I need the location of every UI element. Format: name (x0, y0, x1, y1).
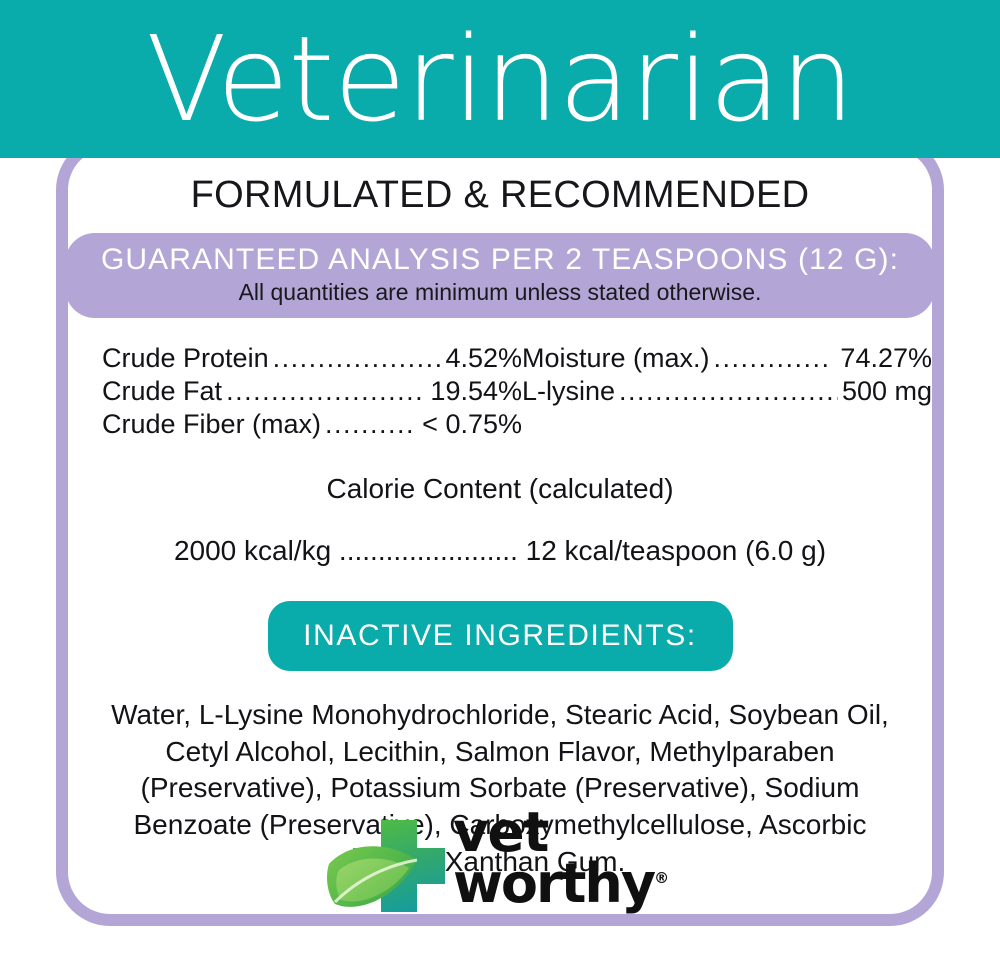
analysis-leader-dots: .......... (325, 408, 418, 441)
analysis-nutrient-name: Moisture (max.) (522, 342, 710, 375)
guaranteed-analysis-subtitle: All quantities are minimum unless stated… (65, 278, 935, 307)
analysis-row: Moisture (max.) ............. 74.27% (522, 342, 932, 375)
analysis-nutrient-value: 74.27% (840, 342, 932, 375)
guaranteed-analysis-table: Crude Protein .................... 4.52%… (56, 342, 944, 441)
guaranteed-analysis-title: GUARANTEED ANALYSIS PER 2 TEASPOONS (12 … (65, 242, 935, 277)
analysis-nutrient-name: L-lysine (522, 375, 615, 408)
green-cross-leaf-icon (325, 812, 455, 924)
analysis-nutrient-value: 19.54% (430, 375, 522, 408)
calorie-content-heading: Calorie Content (calculated) (56, 473, 944, 505)
analysis-column-right: Moisture (max.) ............. 74.27% L-l… (522, 342, 932, 441)
label-content: FORMULATED & RECOMMENDED GUARANTEED ANAL… (56, 158, 944, 926)
brand-logo: vet worthy® (56, 810, 944, 928)
analysis-nutrient-value: < 0.75% (422, 408, 522, 441)
analysis-leader-dots: .......................... (226, 375, 426, 408)
analysis-row: Crude Fiber (max) .......... < 0.75% (102, 408, 522, 441)
brand-logo-inner: vet worthy® (325, 810, 675, 928)
inactive-ingredients-pill: INACTIVE INGREDIENTS: (268, 601, 733, 671)
inactive-ingredients-header: INACTIVE INGREDIENTS: (303, 619, 697, 653)
analysis-nutrient-value: 500 mg (842, 375, 932, 408)
analysis-row: Crude Protein .................... 4.52% (102, 342, 522, 375)
analysis-nutrient-name: Crude Fat (102, 375, 222, 408)
analysis-nutrient-name: Crude Protein (102, 342, 269, 375)
analysis-row: Crude Fat .......................... 19.… (102, 375, 522, 408)
guaranteed-analysis-pill: GUARANTEED ANALYSIS PER 2 TEASPOONS (12 … (65, 233, 935, 318)
analysis-column-left: Crude Protein .................... 4.52%… (102, 342, 522, 441)
analysis-nutrient-name: Crude Fiber (max) (102, 408, 321, 441)
analysis-leader-dots: .................... (273, 342, 442, 375)
calorie-content-line: 2000 kcal/kg ....................... 12 … (56, 535, 944, 567)
analysis-nutrient-value: 4.52% (445, 342, 522, 375)
logo-word-vet: vet (453, 806, 679, 858)
analysis-leader-dots: ............. (714, 342, 837, 375)
brand-logo-wordmark: vet worthy® (453, 806, 679, 930)
product-label: Veterinarian FORMULATED & RECOMMENDED GU… (0, 0, 1000, 962)
masthead-title: Veterinarian (0, 0, 1000, 158)
analysis-row: L-lysine ............................ 50… (522, 375, 932, 408)
masthead-band: Veterinarian (0, 0, 1000, 158)
logo-word-worthy: worthy® (453, 858, 679, 909)
analysis-leader-dots: ............................ (619, 375, 838, 408)
subtitle-formulated-recommended: FORMULATED & RECOMMENDED (56, 174, 944, 217)
registered-trademark-icon: ® (654, 869, 669, 887)
